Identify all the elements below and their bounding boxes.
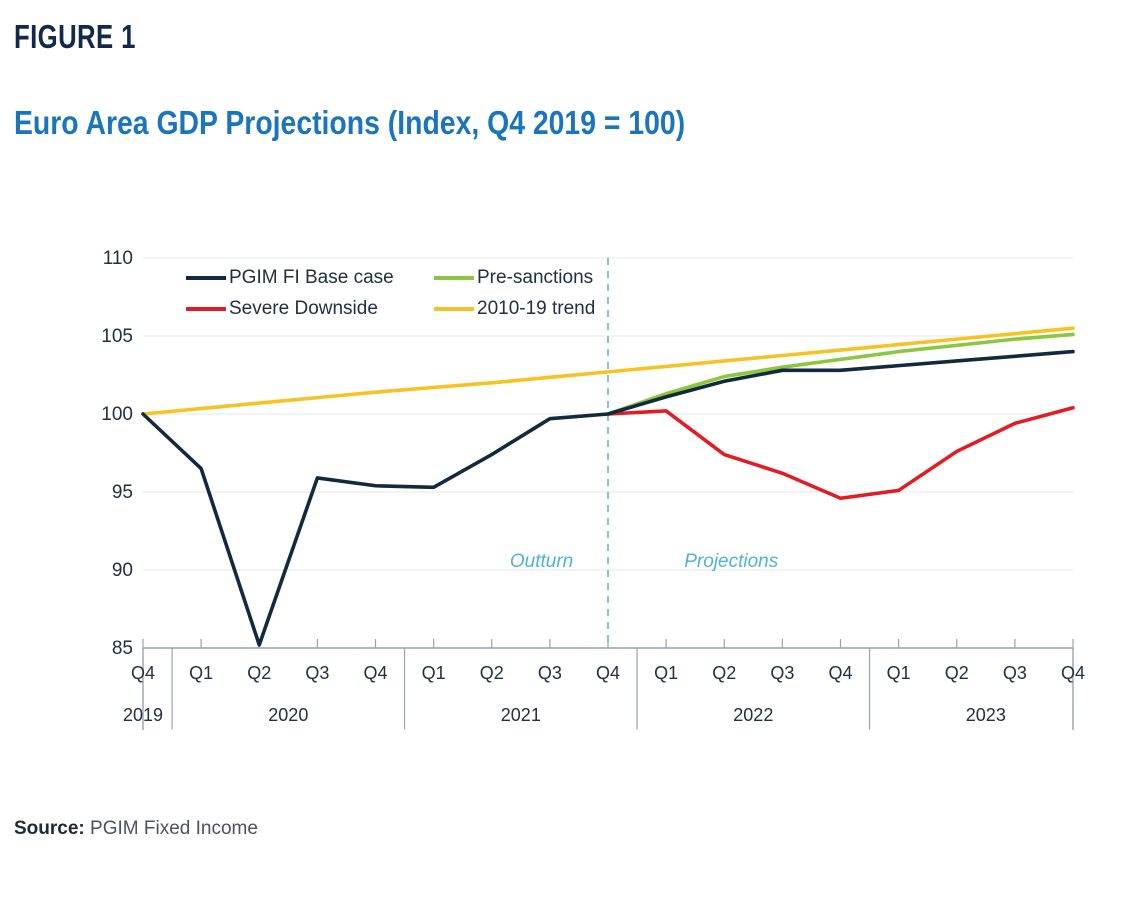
x-axis-quarter-label: Q1 — [173, 664, 229, 682]
annotation-projections: Projections — [684, 551, 778, 573]
source-note: Source: PGIM Fixed Income — [14, 818, 258, 840]
legend-item-severe-downside[interactable]: Severe Downside — [186, 298, 434, 320]
annotation-outturn: Outturn — [510, 551, 573, 573]
x-axis-quarter-label: Q2 — [231, 664, 287, 682]
x-axis-year-label: 2020 — [243, 706, 333, 724]
legend-item-trend[interactable]: 2010-19 trend — [434, 298, 595, 320]
chart-container: 859095100105110 Q4Q1Q2Q3Q4Q1Q2Q3Q4Q1Q2Q3… — [0, 210, 1148, 750]
y-axis-tick-label: 90 — [81, 561, 133, 580]
x-axis-year-label: 2019 — [98, 706, 188, 724]
legend-item-base-case[interactable]: PGIM FI Base case — [186, 267, 434, 289]
y-axis-tick-label: 85 — [81, 639, 133, 658]
series-line-severe-downside — [608, 408, 1073, 498]
x-axis-quarter-label: Q2 — [464, 664, 520, 682]
x-axis-quarter-label: Q4 — [1045, 664, 1101, 682]
x-axis-year-label: 2022 — [708, 706, 798, 724]
legend-label: Severe Downside — [229, 298, 378, 320]
x-axis-quarter-label: Q1 — [406, 664, 462, 682]
x-axis-quarter-label: Q4 — [115, 664, 171, 682]
x-axis-quarter-label: Q3 — [289, 664, 345, 682]
x-axis-quarter-label: Q2 — [929, 664, 985, 682]
x-axis-year-label: 2023 — [941, 706, 1031, 724]
source-label: Source: — [14, 818, 85, 839]
x-axis-quarter-label: Q4 — [813, 664, 869, 682]
legend-label: 2010-19 trend — [477, 298, 595, 320]
x-axis-quarter-label: Q3 — [987, 664, 1043, 682]
x-axis-quarter-label: Q3 — [754, 664, 810, 682]
y-axis-tick-label: 105 — [81, 327, 133, 346]
y-axis-tick-label: 100 — [81, 405, 133, 424]
x-axis-quarter-label: Q3 — [522, 664, 578, 682]
line-swatch-icon — [186, 276, 226, 280]
line-swatch-icon — [434, 276, 474, 280]
y-axis-tick-label: 110 — [81, 249, 133, 268]
legend-label: PGIM FI Base case — [229, 267, 394, 289]
line-swatch-icon — [186, 307, 226, 311]
x-axis-quarter-label: Q1 — [638, 664, 694, 682]
page-title: Euro Area GDP Projections (Index, Q4 201… — [14, 104, 685, 142]
legend-label: Pre-sanctions — [477, 267, 593, 289]
legend-item-pre-sanctions[interactable]: Pre-sanctions — [434, 267, 593, 289]
line-swatch-icon — [434, 307, 474, 311]
source-value: PGIM Fixed Income — [90, 818, 258, 839]
series-line-pre-sanctions — [608, 334, 1073, 414]
x-axis-quarter-label: Q4 — [348, 664, 404, 682]
y-axis-tick-label: 95 — [81, 483, 133, 502]
legend-row: Severe Downside 2010-19 trend — [186, 293, 606, 324]
x-axis-quarter-label: Q2 — [696, 664, 752, 682]
figure-label: FIGURE 1 — [14, 18, 136, 56]
chart-legend: PGIM FI Base case Pre-sanctions Severe D… — [186, 262, 606, 324]
x-axis-quarter-label: Q4 — [580, 664, 636, 682]
x-axis-year-label: 2021 — [476, 706, 566, 724]
x-axis-quarter-label: Q1 — [871, 664, 927, 682]
legend-row: PGIM FI Base case Pre-sanctions — [186, 262, 606, 293]
